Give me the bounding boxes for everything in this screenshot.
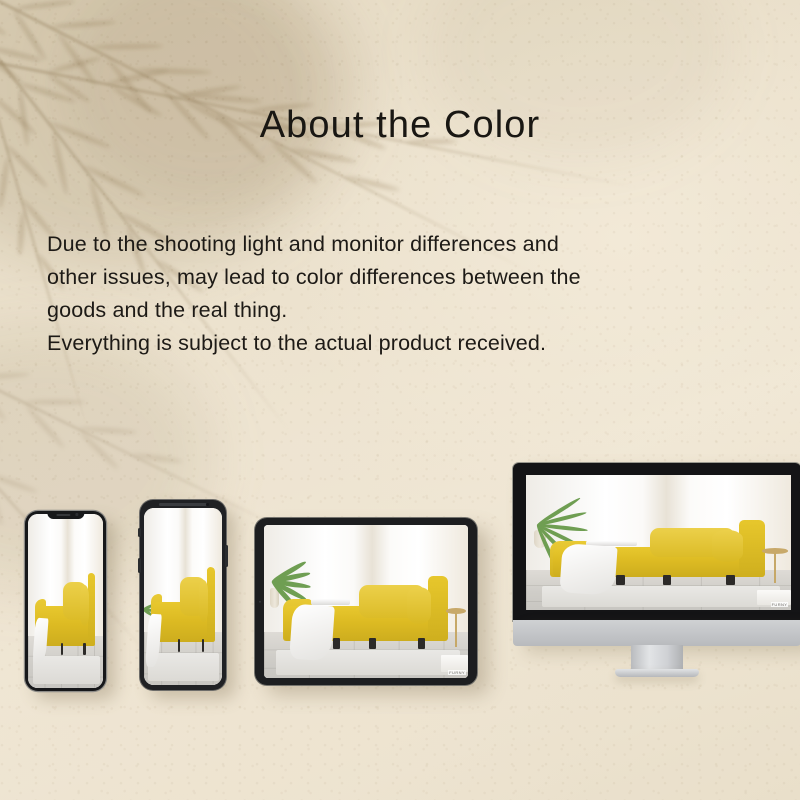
sofa-leg xyxy=(726,575,734,585)
sofa-leg xyxy=(663,575,671,585)
monitor-bezel: FURNY xyxy=(513,463,800,621)
device-smartphone-notch[interactable] xyxy=(25,511,106,691)
speaker-grille-icon xyxy=(57,514,70,516)
power-key[interactable] xyxy=(225,545,227,567)
page-title: About the Color xyxy=(0,103,800,147)
side-table-leg xyxy=(455,613,457,647)
monitor-screen: FURNY xyxy=(526,475,791,610)
product-photo xyxy=(28,514,102,687)
product-photo xyxy=(144,508,223,686)
photo-side-table xyxy=(762,548,789,583)
speaker-grille-icon xyxy=(159,503,207,506)
copy-line-3: goods and the real thing. xyxy=(47,294,759,327)
copy-line-1: Due to the shooting light and monitor di… xyxy=(47,228,759,261)
photo-side-table xyxy=(446,608,466,648)
photo-watermark: FURNY xyxy=(771,602,789,607)
tablet-screen: FURNY xyxy=(264,525,468,678)
product-photo: FURNY xyxy=(526,475,791,610)
device-smartphone-bezelless[interactable] xyxy=(140,500,226,690)
device-desktop-monitor[interactable]: FURNY xyxy=(513,463,800,685)
device-tablet[interactable]: FURNY xyxy=(255,518,477,685)
copy-line-4: Everything is subject to the actual prod… xyxy=(47,327,759,360)
sofa-leg xyxy=(616,575,624,585)
phone1-screen xyxy=(28,514,102,687)
sofa-back xyxy=(88,573,95,646)
sofa-bolster xyxy=(80,585,89,626)
volume-key[interactable] xyxy=(138,558,140,573)
photo-watermark: FURNY xyxy=(448,670,466,675)
copy-line-2: other issues, may lead to color differen… xyxy=(47,261,759,294)
monitor-stand-base xyxy=(615,669,699,677)
product-photo: FURNY xyxy=(264,525,468,678)
front-camera-icon xyxy=(259,600,262,603)
sofa-leg xyxy=(369,638,376,649)
photo-sofa xyxy=(553,526,765,585)
volume-key[interactable] xyxy=(138,528,140,537)
monitor-stand-neck xyxy=(631,645,683,671)
photo-sofa xyxy=(284,583,447,650)
sofa-bolster xyxy=(712,530,744,562)
front-camera-icon xyxy=(206,503,209,506)
side-table-leg xyxy=(774,553,776,583)
monitor-chin xyxy=(513,620,800,646)
sofa-leg xyxy=(333,638,340,649)
photo-rug xyxy=(148,653,219,681)
body-copy: Due to the shooting light and monitor di… xyxy=(47,228,759,360)
phone-notch xyxy=(47,511,84,519)
sofa-leg xyxy=(418,638,425,649)
phone2-screen xyxy=(144,508,223,686)
sofa-leg xyxy=(83,643,85,655)
sofa-leg xyxy=(61,643,63,655)
scene-background: About the Color Due to the shooting ligh… xyxy=(0,0,800,800)
sofa-back xyxy=(207,567,215,642)
sofa-bolster xyxy=(199,580,208,622)
sofa-bolster xyxy=(407,587,431,623)
photo-throw-blanket xyxy=(559,543,617,595)
front-camera-icon xyxy=(76,513,79,516)
